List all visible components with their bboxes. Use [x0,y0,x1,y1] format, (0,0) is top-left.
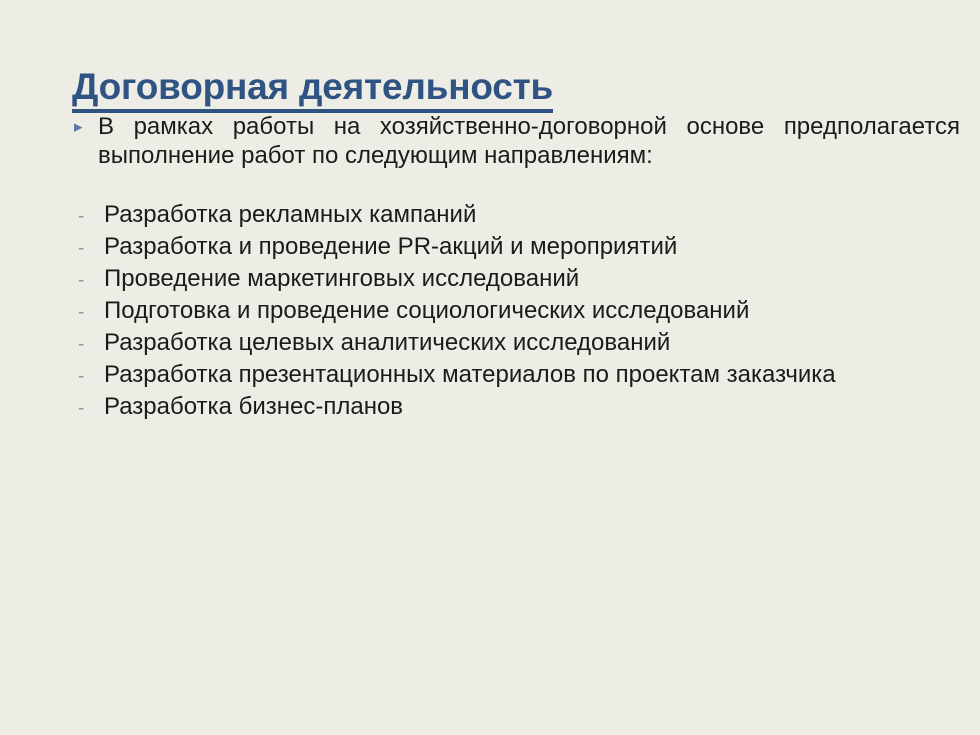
contract-activities-list: - Разработка рекламных кампаний - Разраб… [72,199,962,423]
list-item: - Разработка рекламных кампаний [72,199,962,231]
presentation-slide: Договорная деятельность ▸ В рамках работ… [0,0,980,735]
list-item-label: Проведение маркетинговых исследований [104,263,962,295]
list-item: - Проведение маркетинговых исследований [72,263,962,295]
dash-bullet-icon: - [72,201,104,233]
page-title: Договорная деятельность [72,67,932,112]
intro-paragraph-text: В рамках работы на хозяйственно-договорн… [98,112,960,170]
list-item: - Разработка презентационных материалов … [72,359,962,391]
list-item-label: Разработка рекламных кампаний [104,199,962,231]
dash-bullet-icon: - [72,361,104,393]
dash-bullet-icon: - [72,233,104,265]
list-item: - Подготовка и проведение социологически… [72,295,962,327]
list-item-label: Разработка целевых аналитических исследо… [104,327,962,359]
list-item: - Разработка целевых аналитических иссле… [72,327,962,359]
list-item-label: Разработка и проведение PR-акций и мероп… [104,231,962,263]
intro-row: ▸ В рамках работы на хозяйственно-догово… [72,112,960,170]
intro-paragraph: ▸ В рамках работы на хозяйственно-догово… [72,112,960,170]
list-item: - Разработка бизнес-планов [72,391,962,423]
list-item: - Разработка и проведение PR-акций и мер… [72,231,962,263]
page-title-text: Договорная деятельность [72,67,553,112]
dash-bullet-icon: - [72,297,104,329]
dash-bullet-icon: - [72,265,104,297]
dash-bullet-icon: - [72,329,104,361]
list-item-label: Разработка бизнес-планов [104,391,962,423]
intro-line-1: В рамках работы на хозяйственно-договорн… [98,113,764,140]
list-item-label: Подготовка и проведение социологических … [104,295,962,327]
dash-bullet-icon: - [72,393,104,425]
triangle-bullet-icon: ▸ [72,112,98,141]
list-item-label: Разработка презентационных материалов по… [104,359,962,391]
